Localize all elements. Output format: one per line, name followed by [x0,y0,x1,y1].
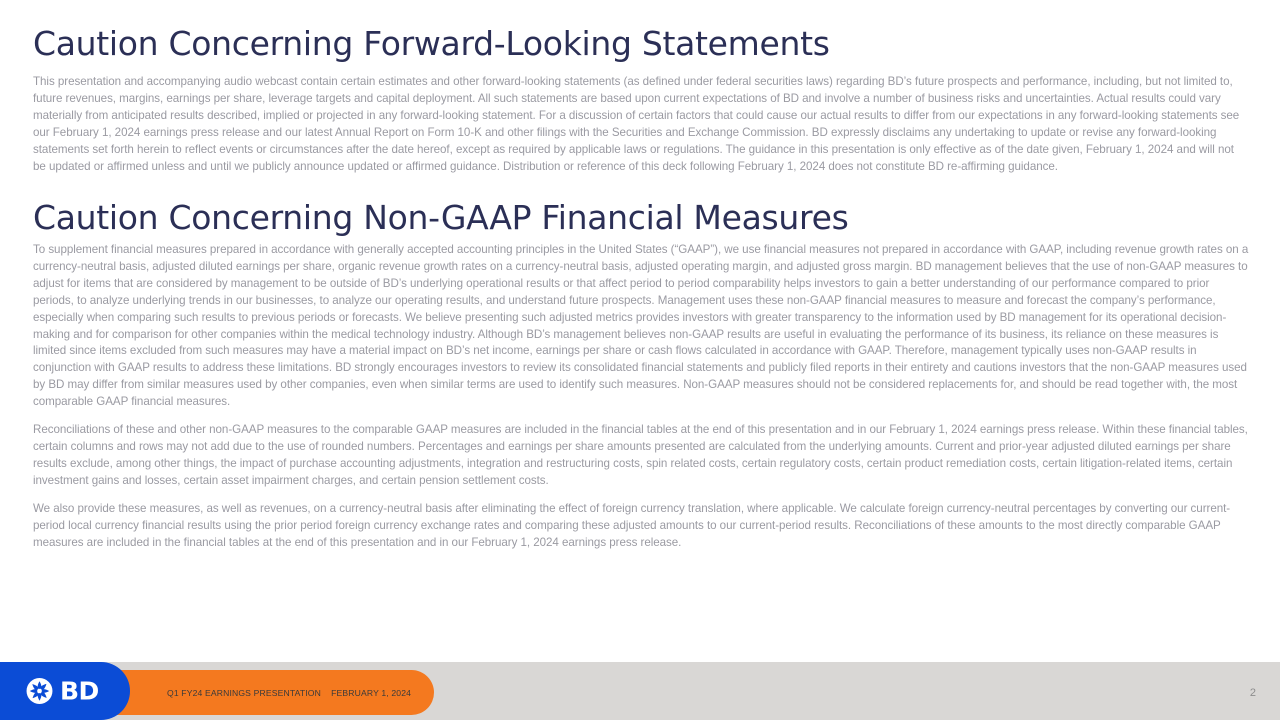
bd-logo: BD [26,678,99,705]
non-gaap-paragraph-1: To supplement financial measures prepare… [33,242,1249,411]
slide: Caution Concerning Forward-Looking State… [0,0,1280,720]
footer-logo-plate: BD [0,662,130,720]
page-number: 2 [1250,670,1256,715]
page-title-non-gaap: Caution Concerning Non-GAAP Financial Me… [33,200,1249,236]
bd-wordmark: BD [60,679,99,704]
non-gaap-paragraph-2: Reconciliations of these and other non-G… [33,422,1249,490]
slide-content: Caution Concerning Forward-Looking State… [33,26,1249,562]
bd-starburst-icon [26,678,53,705]
slide-footer: BD Q1 FY24 EARNINGS PRESENTATION FEBRUAR… [0,648,1280,720]
non-gaap-paragraph-3: We also provide these measures, as well … [33,501,1249,552]
forward-looking-paragraph-1: This presentation and accompanying audio… [33,74,1249,175]
page-title-forward-looking: Caution Concerning Forward-Looking State… [33,26,1249,62]
footer-caption: Q1 FY24 EARNINGS PRESENTATION FEBRUARY 1… [167,670,411,715]
